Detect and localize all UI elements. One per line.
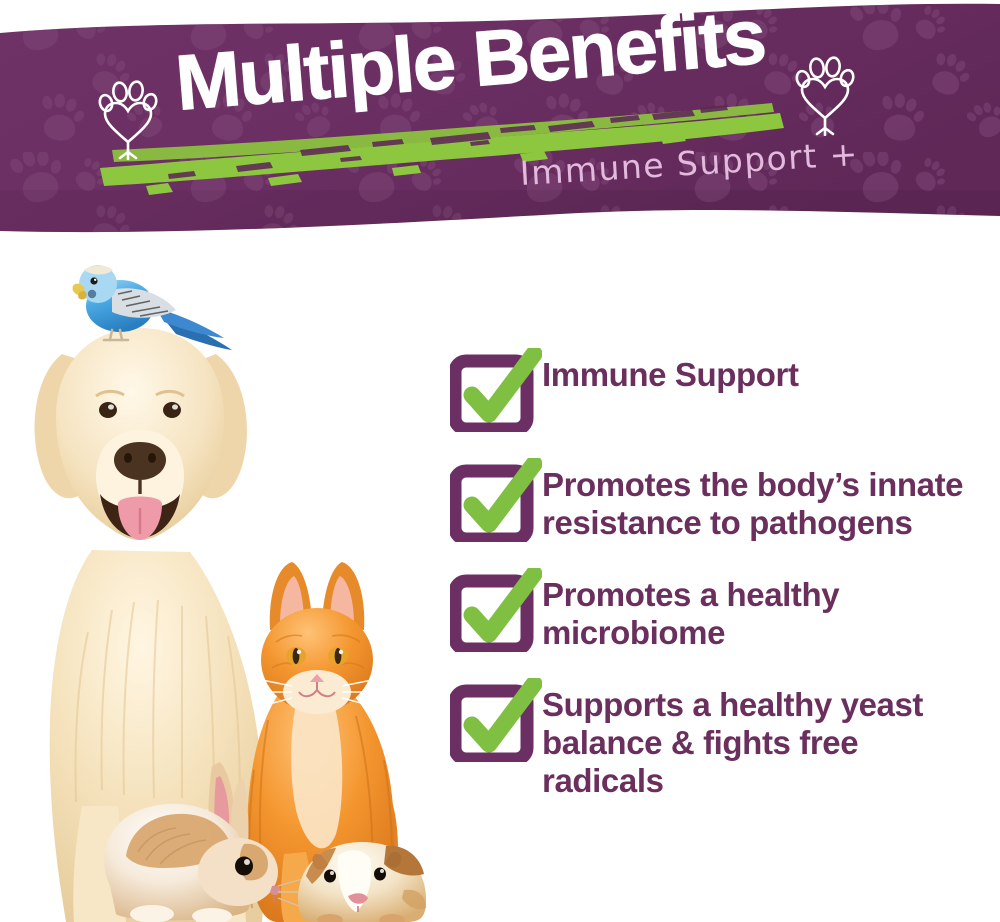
checkbox-checked-icon <box>450 568 542 652</box>
benefit-label: Supports a healthy yeast balance & fight… <box>542 678 980 800</box>
header-banner: Multiple Benefits Immune Support + <box>0 0 1000 250</box>
guinea-pig <box>298 842 426 922</box>
benefit-item: Promotes the body’s innate resistance to… <box>450 458 980 542</box>
paw-heart-icon <box>98 72 160 160</box>
benefits-list: Immune Support Promotes the body’s innat… <box>450 348 980 826</box>
benefit-label: Promotes a healthy microbiome <box>542 568 980 652</box>
benefits-infographic: Multiple Benefits Immune Support + <box>0 0 1000 922</box>
benefit-item: Supports a healthy yeast balance & fight… <box>450 678 980 800</box>
checkbox-checked-icon <box>450 348 542 432</box>
benefit-label: Immune Support <box>542 348 980 394</box>
benefit-label: Promotes the body’s innate resistance to… <box>542 458 980 542</box>
benefit-item: Promotes a healthy microbiome <box>450 568 980 652</box>
banner-tagline: Immune Support + <box>519 134 860 193</box>
pet-photo-illustration <box>0 250 440 922</box>
page-title: Multiple Benefits <box>173 0 818 124</box>
checkbox-checked-icon <box>450 458 542 542</box>
pet-photo-group <box>0 250 440 922</box>
checkbox-checked-icon <box>450 678 542 762</box>
benefit-item: Immune Support <box>450 348 980 432</box>
